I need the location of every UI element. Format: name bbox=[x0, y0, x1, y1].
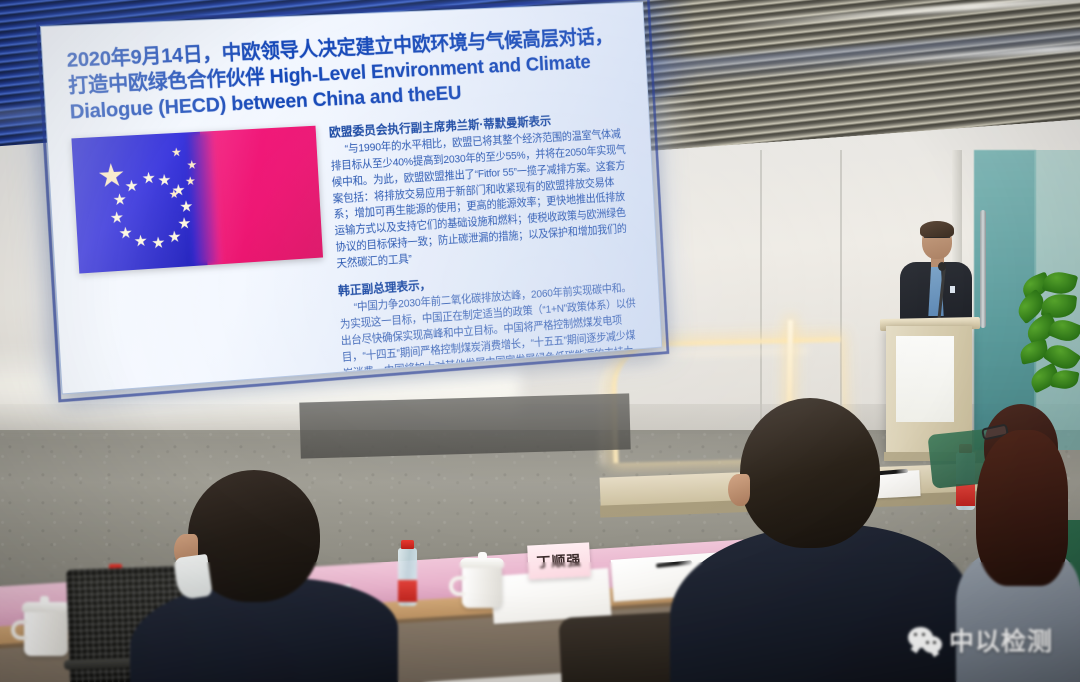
attendee-hair bbox=[976, 430, 1068, 586]
potted-plant bbox=[1016, 272, 1080, 422]
speaker-hair bbox=[920, 221, 954, 238]
watermark-text: 中以检测 bbox=[949, 622, 1053, 658]
face-mask bbox=[173, 554, 213, 600]
mug-handle bbox=[449, 576, 465, 596]
bottle-label bbox=[398, 580, 417, 602]
wechat-icon bbox=[908, 625, 942, 655]
water-bottle bbox=[398, 548, 417, 606]
mug-lid-knob bbox=[40, 596, 49, 604]
conference-room-photo: 2020年9月14日，中欧领导人决定建立中欧环境与气候高层对话，打造中欧绿色合作… bbox=[0, 0, 1080, 682]
microphone-head bbox=[938, 262, 946, 271]
ceramic-mug bbox=[24, 610, 68, 656]
placard-ding: 丁顺强 bbox=[527, 542, 591, 579]
slide-title: 2020年9月14日，中欧领导人决定建立中欧环境与气候高层对话，打造中欧绿色合作… bbox=[66, 24, 626, 126]
attendee-front-left bbox=[130, 470, 390, 682]
slide-body: 欧盟委员会执行副主席弗兰斯·蒂默曼斯表示 “与1990年的水平相比，欧盟已将其整… bbox=[71, 109, 641, 394]
speaker-glasses bbox=[924, 237, 950, 242]
mug-handle bbox=[11, 620, 27, 640]
projection-screen: 2020年9月14日，中欧领导人决定建立中欧环境与气候高层对话，打造中欧绿色合作… bbox=[40, 2, 662, 395]
mug-lid-knob bbox=[478, 552, 487, 560]
wechat-bubble-small bbox=[922, 636, 942, 653]
door-handle[interactable] bbox=[980, 210, 986, 328]
section-body-eu: “与1990年的水平相比，欧盟已将其整个经济范围的温室气体减排目标从至少40%提… bbox=[330, 126, 636, 273]
speaker-badge bbox=[950, 286, 955, 293]
eu-china-flag-image bbox=[71, 125, 323, 273]
attendee-head bbox=[740, 398, 880, 548]
slide-text-column: 欧盟委员会执行副主席弗兰斯·蒂默曼斯表示 “与1990年的水平相比，欧盟已将其整… bbox=[329, 109, 642, 394]
slide-content: 2020年9月14日，中欧领导人决定建立中欧环境与气候高层对话，打造中欧绿色合作… bbox=[41, 3, 661, 394]
ceramic-mug bbox=[462, 566, 502, 608]
wall-dark-panel bbox=[299, 393, 630, 458]
bottle-cap bbox=[401, 540, 414, 549]
watermark: 中以检测 bbox=[908, 622, 1053, 658]
attendee-ear bbox=[728, 474, 750, 506]
